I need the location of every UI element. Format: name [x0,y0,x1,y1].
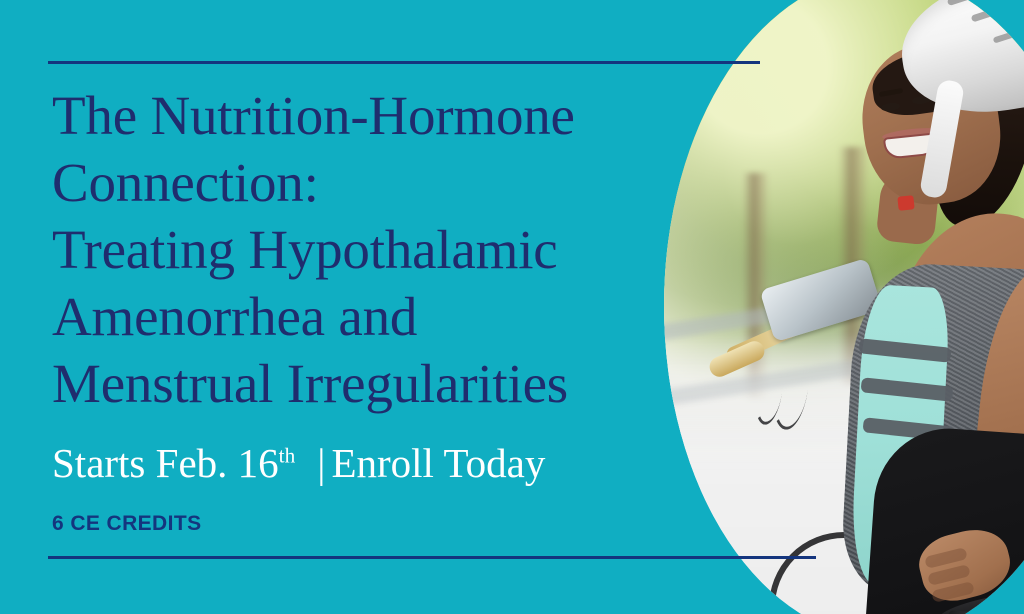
start-date-and-cta: Starts Feb. 16th|Enroll Today [52,439,545,487]
photo-background [664,0,1024,614]
top-divider [48,61,760,64]
enroll-today-link[interactable]: Enroll Today [331,440,545,486]
separator: | [295,439,331,487]
ordinal-suffix: th [279,443,296,467]
cyclist-photo [664,0,1024,614]
banner-content: The Nutrition-Hormone Connection: Treati… [52,82,692,417]
ce-credits-badge: 6 CE CREDITS [52,512,202,536]
helmet-strap-clip [898,196,915,212]
promo-banner: The Nutrition-Hormone Connection: Treati… [0,0,1024,614]
bottom-divider [48,556,816,559]
page-title: The Nutrition-Hormone Connection: Treati… [52,82,692,417]
cyclist-figure [664,0,1024,614]
start-date-text: Starts Feb. 16 [52,440,279,486]
